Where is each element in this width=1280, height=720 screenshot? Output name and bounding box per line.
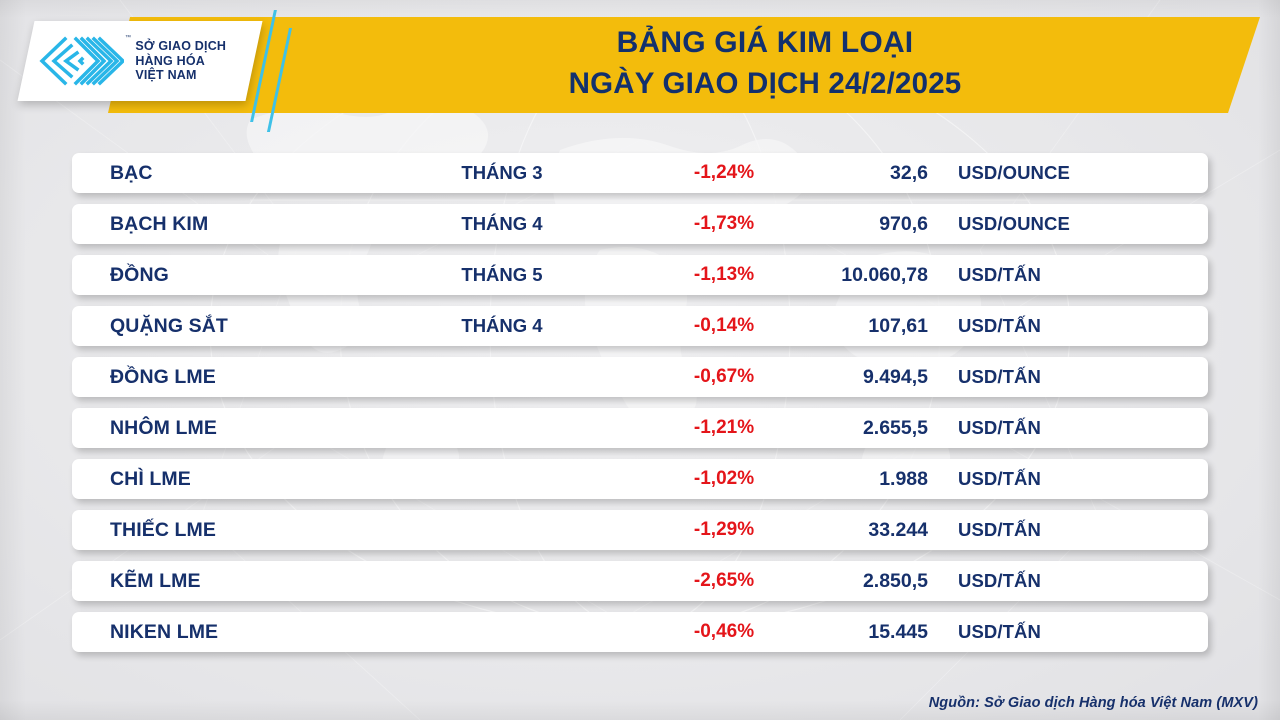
unit-cell: USD/TẤN — [958, 315, 1041, 337]
contract-month-cell: THÁNG 4 — [417, 213, 587, 235]
metal-name-cell: ĐỒNG LME — [110, 366, 216, 389]
table-row[interactable]: BẠCTHÁNG 3-1,24%32,6USD/OUNCE — [72, 153, 1208, 193]
price-cell: 15.445 — [712, 621, 928, 644]
unit-cell: USD/TẤN — [958, 519, 1041, 541]
metal-name-cell: KẼM LME — [110, 570, 201, 593]
table-row[interactable]: KẼM LME-2,65%2.850,5USD/TẤN — [72, 561, 1208, 601]
metal-name-cell: THIẾC LME — [110, 519, 216, 542]
table-row[interactable]: NIKEN LME-0,46%15.445USD/TẤN — [72, 612, 1208, 652]
price-table: BẠCTHÁNG 3-1,24%32,6USD/OUNCEBẠCH KIMTHÁ… — [0, 153, 1280, 663]
table-row[interactable]: ĐỒNGTHÁNG 5-1,13%10.060,78USD/TẤN — [72, 255, 1208, 295]
metal-name-cell: ĐỒNG — [110, 264, 169, 287]
unit-cell: USD/TẤN — [958, 264, 1041, 286]
metal-name-cell: NIKEN LME — [110, 621, 218, 644]
unit-cell: USD/TẤN — [958, 621, 1041, 643]
title-line-1: BẢNG GIÁ KIM LOẠI — [300, 22, 1230, 63]
metal-name-cell: BẠCH KIM — [110, 213, 208, 236]
logo-wordmark: SỞ GIAO DỊCH HÀNG HÓA VIỆT NAM — [135, 39, 226, 82]
table-row[interactable]: BẠCH KIMTHÁNG 4-1,73%970,6USD/OUNCE — [72, 204, 1208, 244]
trademark-symbol: ™ — [125, 35, 131, 41]
header-banner: ™ SỞ GIAO DỊCH HÀNG HÓA VIỆT NAM BẢNG GI… — [0, 0, 1280, 132]
price-cell: 2.850,5 — [712, 570, 928, 593]
logo-line-2: HÀNG HÓA — [135, 54, 226, 68]
price-cell: 9.494,5 — [712, 366, 928, 389]
unit-cell: USD/TẤN — [958, 570, 1041, 592]
price-cell: 2.655,5 — [712, 417, 928, 440]
price-cell: 1.988 — [712, 468, 928, 491]
contract-month-cell: THÁNG 3 — [417, 162, 587, 184]
unit-cell: USD/OUNCE — [958, 162, 1070, 184]
logo-line-3: VIỆT NAM — [135, 68, 226, 82]
unit-cell: USD/TẤN — [958, 468, 1041, 490]
source-note: Nguồn: Sở Giao dịch Hàng hóa Việt Nam (M… — [929, 695, 1258, 711]
unit-cell: USD/TẤN — [958, 366, 1041, 388]
table-row[interactable]: CHÌ LME-1,02%1.988USD/TẤN — [72, 459, 1208, 499]
metal-name-cell: QUẶNG SẮT — [110, 315, 228, 338]
price-cell: 32,6 — [712, 162, 928, 185]
table-row[interactable]: THIẾC LME-1,29%33.244USD/TẤN — [72, 510, 1208, 550]
price-cell: 33.244 — [712, 519, 928, 542]
table-row[interactable]: QUẶNG SẮTTHÁNG 4-0,14%107,61USD/TẤN — [72, 306, 1208, 346]
logo-line-1: SỞ GIAO DỊCH — [135, 39, 226, 53]
page-title: BẢNG GIÁ KIM LOẠI NGÀY GIAO DỊCH 24/2/20… — [300, 22, 1230, 104]
price-cell: 107,61 — [712, 315, 928, 338]
table-row[interactable]: NHÔM LME-1,21%2.655,5USD/TẤN — [72, 408, 1208, 448]
contract-month-cell: THÁNG 4 — [417, 315, 587, 337]
metal-price-board: ™ SỞ GIAO DỊCH HÀNG HÓA VIỆT NAM BẢNG GI… — [0, 0, 1280, 720]
unit-cell: USD/TẤN — [958, 417, 1041, 439]
table-row[interactable]: ĐỒNG LME-0,67%9.494,5USD/TẤN — [72, 357, 1208, 397]
metal-name-cell: CHÌ LME — [110, 468, 191, 491]
mxv-chevron-maze-logo-icon — [38, 36, 124, 86]
contract-month-cell: THÁNG 5 — [417, 264, 587, 286]
metal-name-cell: BẠC — [110, 162, 153, 185]
logo-card: ™ SỞ GIAO DỊCH HÀNG HÓA VIỆT NAM — [17, 21, 262, 101]
title-line-2: NGÀY GIAO DỊCH 24/2/2025 — [300, 63, 1230, 104]
metal-name-cell: NHÔM LME — [110, 417, 217, 440]
price-cell: 10.060,78 — [712, 264, 928, 287]
unit-cell: USD/OUNCE — [958, 213, 1070, 235]
price-cell: 970,6 — [712, 213, 928, 236]
